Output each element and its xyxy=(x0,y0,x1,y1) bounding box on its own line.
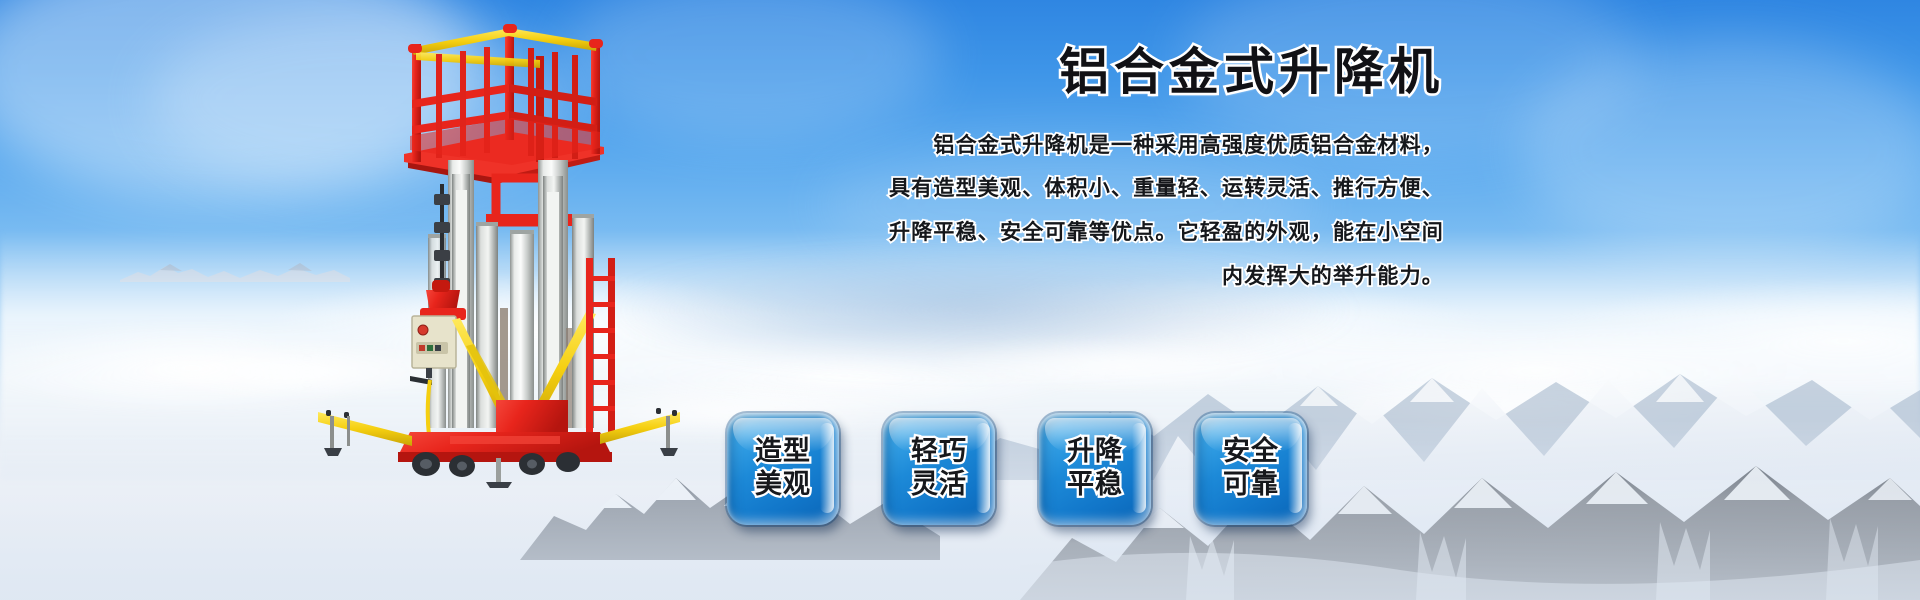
badge-label-line1: 安全 xyxy=(1223,436,1279,469)
feature-badge-list: 造型 美观 轻巧 灵活 升降 平稳 安全 可靠 xyxy=(727,413,1307,525)
badge-label-line2: 可靠 xyxy=(1223,469,1279,502)
product-description: 铝合金式升降机是一种采用高强度优质铝合金材料， 具有造型美观、体积小、重量轻、运… xyxy=(700,124,1460,299)
center-stabilizer xyxy=(486,458,512,488)
cloud-wisp xyxy=(1520,40,1920,260)
badge-label-line2: 灵活 xyxy=(911,469,967,502)
badge-label-line1: 升降 xyxy=(1067,436,1123,469)
badge-label-line1: 轻巧 xyxy=(911,436,967,469)
badge-label-line2: 美观 xyxy=(755,469,811,502)
badge-label-line2: 平稳 xyxy=(1067,469,1123,502)
badge-label: 升降 平稳 xyxy=(1067,436,1123,502)
copy-block: 铝合金式升降机 铝合金式升降机是一种采用高强度优质铝合金材料， 具有造型美观、体… xyxy=(700,44,1460,298)
badge-label-line1: 造型 xyxy=(755,436,811,469)
counterweight-block xyxy=(496,400,568,434)
description-line: 具有造型美观、体积小、重量轻、运转灵活、推行方便、 xyxy=(700,167,1444,211)
badge-label: 安全 可靠 xyxy=(1223,436,1279,502)
badge-label: 轻巧 灵活 xyxy=(911,436,967,502)
feature-badge-zaoxingmeiguan[interactable]: 造型 美观 xyxy=(727,413,839,525)
page-title: 铝合金式升降机 xyxy=(700,44,1460,102)
aluminum-alloy-lift-image xyxy=(300,8,700,488)
description-line: 升降平稳、安全可靠等优点。它轻盈的外观，能在小空间 xyxy=(700,211,1444,255)
feature-badge-qingqiaolinghuo[interactable]: 轻巧 灵活 xyxy=(883,413,995,525)
badge-label: 造型 美观 xyxy=(755,436,811,502)
description-line: 内发挥大的举升能力。 xyxy=(700,255,1444,299)
access-ladder xyxy=(586,258,615,438)
guard-rail-platform xyxy=(404,24,604,184)
feature-badge-shengjiangpingwen[interactable]: 升降 平稳 xyxy=(1039,413,1151,525)
description-line: 铝合金式升降机是一种采用高强度优质铝合金材料， xyxy=(700,124,1444,168)
promo-banner: 铝合金式升降机 铝合金式升降机是一种采用高强度优质铝合金材料， 具有造型美观、体… xyxy=(0,0,1920,600)
feature-badge-anquankekao[interactable]: 安全 可靠 xyxy=(1195,413,1307,525)
